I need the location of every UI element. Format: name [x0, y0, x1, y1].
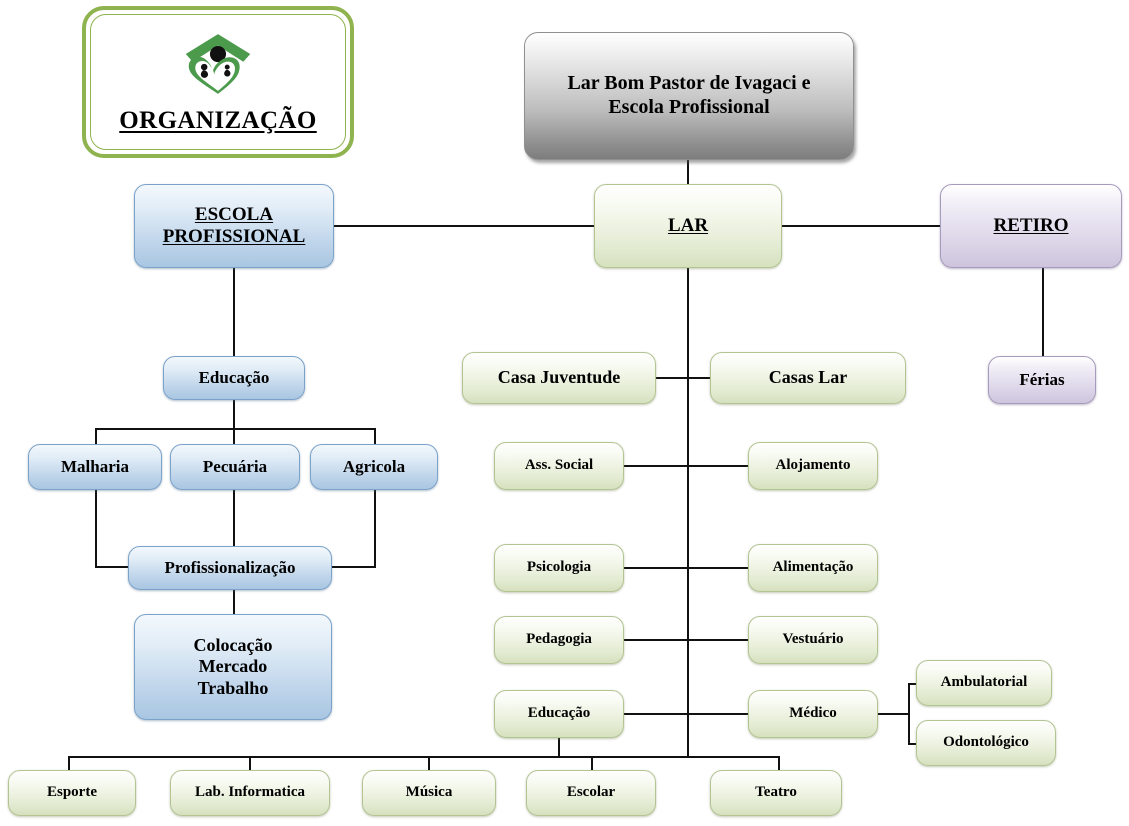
lar-row4-left-label: Educação — [528, 705, 591, 723]
lar-row4-right-label: Médico — [789, 705, 836, 723]
connector-agricola-in — [330, 566, 376, 568]
lar-node-musica[interactable]: Música — [362, 770, 496, 816]
connector-row3 — [624, 639, 748, 641]
connector-lar-spine — [687, 268, 689, 714]
escola-profissionalizacao-label: Profissionalização — [165, 558, 296, 578]
lar-node-escolar[interactable]: Escolar — [526, 770, 656, 816]
lar-row1-left-label: Ass. Social — [525, 457, 593, 475]
medico-child-0-label: Ambulatorial — [941, 674, 1028, 692]
educacao-child-0-label: Esporte — [47, 784, 97, 802]
lar-label: LAR — [668, 215, 708, 237]
connector-medico-out — [878, 713, 910, 715]
lar-node-alojamento[interactable]: Alojamento — [748, 442, 878, 490]
colocacao-line2: Mercado — [194, 656, 273, 677]
lar-node-psicologia[interactable]: Psicologia — [494, 544, 624, 592]
lar-row0-left-label: Casa Juventude — [498, 367, 621, 388]
escola-educacao-label: Educação — [199, 368, 270, 388]
escola-node-colocacao-mercado-trabalho[interactable]: Colocação Mercado Trabalho — [134, 614, 332, 720]
connector-row1 — [624, 465, 748, 467]
lar-node-medico[interactable]: Médico — [748, 690, 878, 738]
branch-lar[interactable]: LAR — [594, 184, 782, 268]
lar-node-vestuario[interactable]: Vestuário — [748, 616, 878, 664]
colocacao-line3: Trabalho — [194, 678, 273, 699]
lar-node-esporte[interactable]: Esporte — [8, 770, 136, 816]
escola-line2: PROFISSIONAL — [163, 226, 306, 248]
connector-pecuaria-down — [233, 490, 235, 548]
connector-row2 — [624, 567, 748, 569]
lar-row3-right-label: Vestuário — [782, 631, 843, 649]
connector-spine-to-bottom-bus — [687, 714, 689, 758]
connector-profissionalizacao-to-colocacao — [233, 590, 235, 616]
branch-retiro[interactable]: RETIRO — [940, 184, 1122, 268]
lar-node-lab-informatica[interactable]: Lab. Informatica — [170, 770, 330, 816]
lar-node-educacao[interactable]: Educação — [494, 690, 624, 738]
logo-inner-frame: ORGANIZAÇÃO — [90, 14, 346, 150]
connector-bottom-bus — [68, 756, 780, 758]
connector-row4 — [624, 713, 748, 715]
logo-caption: ORGANIZAÇÃO — [119, 107, 316, 135]
lar-node-odontologico[interactable]: Odontológico — [916, 720, 1056, 766]
lar-row2-right-label: Alimentação — [773, 559, 854, 577]
connector-trio-bus — [95, 428, 375, 430]
escola-node-malharia[interactable]: Malharia — [28, 444, 162, 490]
lar-node-pedagogia[interactable]: Pedagogia — [494, 616, 624, 664]
escola-pecuaria-label: Pecuária — [203, 457, 267, 477]
organization-logo-card: ORGANIZAÇÃO — [82, 6, 354, 158]
retiro-ferias-label: Férias — [1019, 370, 1064, 390]
escola-malharia-label: Malharia — [61, 457, 129, 477]
lar-node-casa-juventude[interactable]: Casa Juventude — [462, 352, 656, 404]
escola-node-pecuaria[interactable]: Pecuária — [170, 444, 300, 490]
connector-lar-to-retiro — [782, 225, 940, 227]
organizational-chart: ORGANIZAÇÃO Lar Bom Pastor de Ivagaci e … — [0, 0, 1129, 826]
connector-malharia-down — [95, 490, 97, 568]
educacao-child-1-label: Lab. Informatica — [195, 784, 305, 802]
lar-row1-right-label: Alojamento — [776, 457, 851, 475]
connector-escola-to-lar — [334, 225, 594, 227]
escola-educacao-node[interactable]: Educação — [163, 356, 305, 400]
escola-line1: ESCOLA — [163, 204, 306, 226]
connector-educacao-drop-bottom — [558, 738, 560, 758]
lar-row0-right-label: Casas Lar — [769, 367, 848, 388]
escola-agricola-label: Agricola — [343, 457, 405, 477]
lar-row2-left-label: Psicologia — [527, 559, 591, 577]
connector-row0 — [656, 377, 710, 379]
connector-escola-to-educacao — [233, 268, 235, 360]
lar-node-ambulatorial[interactable]: Ambulatorial — [916, 660, 1052, 706]
educacao-child-2-label: Música — [406, 784, 453, 802]
root-title-box: Lar Bom Pastor de Ivagaci e Escola Profi… — [524, 32, 854, 160]
house-heart-child-logo-icon — [179, 31, 257, 97]
connector-agricola-down — [374, 490, 376, 568]
lar-node-ass-social[interactable]: Ass. Social — [494, 442, 624, 490]
connector-medico-bus — [908, 683, 910, 745]
branch-escola-profissional[interactable]: ESCOLA PROFISSIONAL — [134, 184, 334, 268]
retiro-node-ferias[interactable]: Férias — [988, 356, 1096, 404]
escola-node-agricola[interactable]: Agricola — [310, 444, 438, 490]
lar-node-teatro[interactable]: Teatro — [710, 770, 842, 816]
medico-child-1-label: Odontológico — [943, 734, 1029, 752]
lar-node-alimentacao[interactable]: Alimentação — [748, 544, 878, 592]
escola-node-profissionalizacao[interactable]: Profissionalização — [128, 546, 332, 590]
educacao-child-4-label: Teatro — [755, 784, 797, 802]
colocacao-line1: Colocação — [194, 635, 273, 656]
lar-node-casas-lar[interactable]: Casas Lar — [710, 352, 906, 404]
root-title-line1: Lar Bom Pastor de Ivagaci e — [567, 72, 810, 96]
educacao-child-3-label: Escolar — [567, 784, 615, 802]
retiro-label: RETIRO — [994, 215, 1069, 237]
root-title-line2: Escola Profissional — [567, 96, 810, 120]
connector-retiro-to-ferias — [1042, 268, 1044, 358]
lar-row3-left-label: Pedagogia — [526, 631, 592, 649]
